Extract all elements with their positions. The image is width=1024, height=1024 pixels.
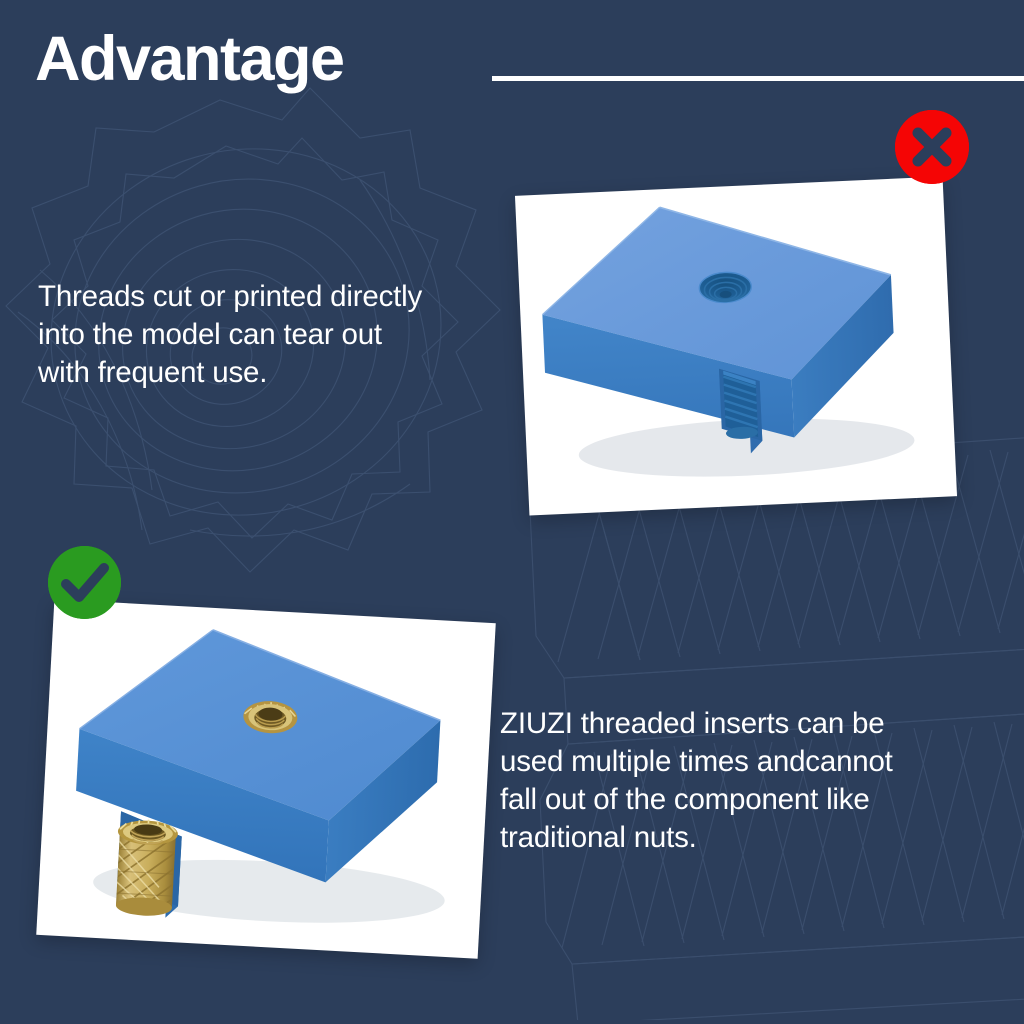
positive-product-photo-card [36, 599, 496, 958]
positive-text-line-2: used multiple times andcannot [500, 743, 1000, 781]
negative-text-line-1: Threads cut or printed directly [38, 278, 538, 316]
negative-product-photo-card [515, 176, 957, 515]
page-title: Advantage [35, 28, 344, 91]
negative-panel-text: Threads cut or printed directly into the… [38, 278, 538, 392]
block-with-printed-threads-illustration [515, 176, 957, 515]
positive-text-line-1: ZIUZI threaded inserts can be [500, 705, 1000, 743]
title-rule-divider [492, 76, 1024, 81]
cross-badge [895, 110, 969, 184]
positive-panel-text: ZIUZI threaded inserts can be used multi… [500, 705, 1000, 857]
block-with-brass-inserts-illustration [36, 599, 496, 958]
infographic-canvas: Advantage Threads cut or printed directl… [0, 0, 1024, 1024]
positive-text-line-4: traditional nuts. [500, 819, 1000, 857]
negative-text-line-2: into the model can tear out [38, 316, 538, 354]
negative-text-line-3: with frequent use. [38, 354, 538, 392]
check-badge [48, 546, 121, 619]
positive-text-line-3: fall out of the component like [500, 781, 1000, 819]
cross-icon [895, 110, 969, 184]
check-icon [48, 546, 121, 619]
